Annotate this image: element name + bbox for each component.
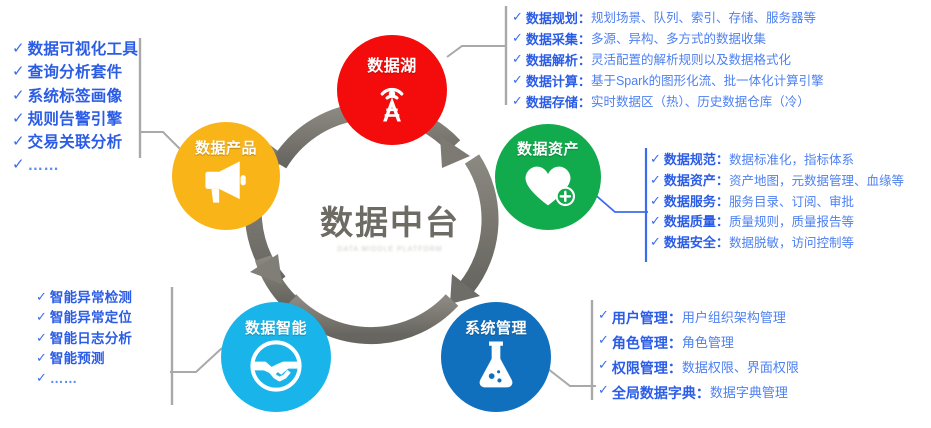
list-item: ✓ 数据存储 ： 实时数据区（热）、历史数据仓库（冷） xyxy=(512,92,824,113)
list-item: ✓ 数据计算 ： 基于Spark的图形化流、批一体化计算引擎 xyxy=(512,71,824,92)
list-item: ✓ 数据解析 ： 灵活配置的解析规则以及数据格式化 xyxy=(512,50,824,71)
item-head: 数据服务 xyxy=(664,192,716,213)
item-sep: ： xyxy=(696,381,710,406)
item-sep: ： xyxy=(668,306,682,331)
item-head: 规则告警引擎 xyxy=(28,108,123,131)
check-icon: ✓ xyxy=(36,369,47,387)
list-item: ✓ 角色管理 ： 角色管理 xyxy=(598,331,799,356)
node-data-lake[interactable]: 数据湖 xyxy=(337,35,447,145)
node-data-product[interactable]: 数据产品 xyxy=(172,122,280,230)
center-title: 数据中台 xyxy=(300,205,480,241)
list-item: ✓ 数据安全 ： 数据脱敏，访问控制等 xyxy=(650,233,904,254)
node-data-asset[interactable]: 数据资产 xyxy=(495,124,601,230)
item-head: 角色管理 xyxy=(612,331,668,356)
item-detail: 数据标准化，指标体系 xyxy=(729,150,854,170)
item-head: 数据计算 xyxy=(526,71,578,92)
item-head: 用户管理 xyxy=(612,306,668,331)
check-icon: ✓ xyxy=(36,329,47,347)
item-head: 数据采集 xyxy=(526,29,578,50)
heart-plus-icon xyxy=(520,159,576,209)
item-head: 数据可视化工具 xyxy=(28,38,139,61)
check-icon: ✓ xyxy=(650,150,661,168)
item-head: 智能日志分析 xyxy=(50,329,132,349)
check-icon: ✓ xyxy=(36,308,47,326)
list-item: ✓ 数据资产 ： 资产地图，元数据管理、血缘等 xyxy=(650,171,904,192)
node-data-lake-label: 数据湖 xyxy=(367,52,417,76)
list-item: ✓ 智能日志分析 xyxy=(36,329,132,349)
item-sep: ： xyxy=(578,50,591,71)
item-sep: ： xyxy=(716,212,729,233)
item-head: 智能异常检测 xyxy=(50,288,132,308)
item-head: 交易关联分析 xyxy=(28,131,123,154)
check-icon: ✓ xyxy=(512,8,523,26)
item-head: 系统标签画像 xyxy=(28,85,123,108)
list-item: ✓ …… xyxy=(36,369,132,389)
check-icon: ✓ xyxy=(650,171,661,189)
check-icon: ✓ xyxy=(598,331,609,349)
list-item: ✓ 用户管理 ： 用户组织架构管理 xyxy=(598,306,799,331)
node-system-management-label: 系统管理 xyxy=(465,317,527,338)
check-icon: ✓ xyxy=(598,381,609,399)
item-head: 数据解析 xyxy=(526,50,578,71)
node-system-management[interactable]: 系统管理 xyxy=(441,302,551,412)
check-icon: ✓ xyxy=(512,71,523,89)
item-detail: 实时数据区（热）、历史数据仓库（冷） xyxy=(591,92,810,112)
check-icon: ✓ xyxy=(36,288,47,306)
item-detail: 规划场景、队列、索引、存储、服务器等 xyxy=(591,8,816,28)
check-icon: ✓ xyxy=(36,349,47,367)
item-sep: ： xyxy=(716,171,729,192)
item-detail: 数据脱敏，访问控制等 xyxy=(729,233,854,253)
list-item: ✓ 交易关联分析 xyxy=(12,131,138,154)
item-detail: 数据字典管理 xyxy=(710,381,788,404)
diagram-canvas: 数据中台 DATA MIDDLE PLATFORM 数据湖 数据资产 xyxy=(0,0,931,428)
list-item: ✓ 智能异常检测 xyxy=(36,288,132,308)
item-head: …… xyxy=(28,154,60,177)
list-item: ✓ 系统标签画像 xyxy=(12,85,138,108)
item-head: 数据规范 xyxy=(664,150,716,171)
node-data-intelligence[interactable]: 数据智能 xyxy=(221,302,331,412)
item-detail: 质量规则，质量报告等 xyxy=(729,212,854,232)
list-item: ✓ 数据采集 ： 多源、异构、多方式的数据收集 xyxy=(512,29,824,50)
check-icon: ✓ xyxy=(650,192,661,210)
item-sep: ： xyxy=(578,71,591,92)
list-item: ✓ 智能预测 xyxy=(36,349,132,369)
item-detail: 用户组织架构管理 xyxy=(682,306,786,329)
list-item: ✓ …… xyxy=(12,154,138,177)
item-sep: ： xyxy=(668,356,682,381)
item-head: 数据存储 xyxy=(526,92,578,113)
item-detail: 资产地图，元数据管理、血缘等 xyxy=(729,171,904,191)
item-head: …… xyxy=(50,369,77,389)
annotation-data-lake: ✓ 数据规划 ： 规划场景、队列、索引、存储、服务器等 ✓ 数据采集 ： 多源、… xyxy=(512,8,824,113)
item-head: 智能预测 xyxy=(50,349,105,369)
check-icon: ✓ xyxy=(12,154,25,175)
annotation-system-management: ✓ 用户管理 ： 用户组织架构管理 ✓ 角色管理 ： 角色管理 ✓ 权限管理 ：… xyxy=(598,306,799,406)
list-item: ✓ 查询分析套件 xyxy=(12,61,138,84)
item-detail: 服务目录、订阅、审批 xyxy=(729,192,854,212)
item-sep: ： xyxy=(668,331,682,356)
item-head: 查询分析套件 xyxy=(28,61,123,84)
item-head: 权限管理 xyxy=(612,356,668,381)
flask-icon xyxy=(473,338,519,390)
list-item: ✓ 数据质量 ： 质量规则，质量报告等 xyxy=(650,212,904,233)
item-head: 数据规划 xyxy=(526,8,578,29)
ring-arc-5 xyxy=(250,254,290,302)
item-sep: ： xyxy=(716,150,729,171)
check-icon: ✓ xyxy=(650,212,661,230)
item-detail: 多源、异构、多方式的数据收集 xyxy=(591,29,766,49)
item-head: 数据资产 xyxy=(664,171,716,192)
broadcast-tower-icon xyxy=(366,76,418,128)
item-sep: ： xyxy=(716,233,729,254)
check-icon: ✓ xyxy=(598,356,609,374)
item-sep: ： xyxy=(716,192,729,213)
node-data-intelligence-label: 数据智能 xyxy=(245,317,307,338)
center-title-group: 数据中台 DATA MIDDLE PLATFORM xyxy=(300,205,480,253)
list-item: ✓ 全局数据字典 ： 数据字典管理 xyxy=(598,381,799,406)
node-data-product-label: 数据产品 xyxy=(195,137,257,158)
check-icon: ✓ xyxy=(512,50,523,68)
item-sep: ： xyxy=(578,29,591,50)
check-icon: ✓ xyxy=(12,85,25,106)
check-icon: ✓ xyxy=(12,108,25,129)
item-head: 智能异常定位 xyxy=(50,308,132,328)
item-detail: 数据权限、界面权限 xyxy=(682,356,799,379)
check-icon: ✓ xyxy=(598,306,609,324)
annotation-data-asset: ✓ 数据规范 ： 数据标准化，指标体系 ✓ 数据资产 ： 资产地图，元数据管理、… xyxy=(650,150,904,254)
annotation-data-intelligence: ✓ 智能异常检测 ✓ 智能异常定位 ✓ 智能日志分析 ✓ 智能预测 ✓ …… xyxy=(36,288,132,389)
list-item: ✓ 智能异常定位 xyxy=(36,308,132,328)
check-icon: ✓ xyxy=(650,233,661,251)
center-subtitle: DATA MIDDLE PLATFORM xyxy=(300,246,480,253)
item-head: 数据质量 xyxy=(664,212,716,233)
item-detail: 灵活配置的解析规则以及数据格式化 xyxy=(591,50,791,70)
list-item: ✓ 数据规划 ： 规划场景、队列、索引、存储、服务器等 xyxy=(512,8,824,29)
check-icon: ✓ xyxy=(12,38,25,59)
annotation-data-product: ✓ 数据可视化工具 ✓ 查询分析套件 ✓ 系统标签画像 ✓ 规则告警引擎 ✓ 交… xyxy=(12,38,138,178)
item-head: 全局数据字典 xyxy=(612,381,696,406)
list-item: ✓ 数据规范 ： 数据标准化，指标体系 xyxy=(650,150,904,171)
check-icon: ✓ xyxy=(12,61,25,82)
check-icon: ✓ xyxy=(512,29,523,47)
item-detail: 角色管理 xyxy=(682,331,734,354)
megaphone-icon xyxy=(198,158,254,206)
item-sep: ： xyxy=(578,8,591,29)
list-item: ✓ 权限管理 ： 数据权限、界面权限 xyxy=(598,356,799,381)
list-item: ✓ 数据服务 ： 服务目录、订阅、审批 xyxy=(650,192,904,213)
handshake-icon xyxy=(248,338,304,394)
node-data-asset-label: 数据资产 xyxy=(517,138,579,159)
check-icon: ✓ xyxy=(12,131,25,152)
item-sep: ： xyxy=(578,92,591,113)
item-head: 数据安全 xyxy=(664,233,716,254)
item-detail: 基于Spark的图形化流、批一体化计算引擎 xyxy=(591,71,824,91)
list-item: ✓ 规则告警引擎 xyxy=(12,108,138,131)
check-icon: ✓ xyxy=(512,92,523,110)
list-item: ✓ 数据可视化工具 xyxy=(12,38,138,61)
